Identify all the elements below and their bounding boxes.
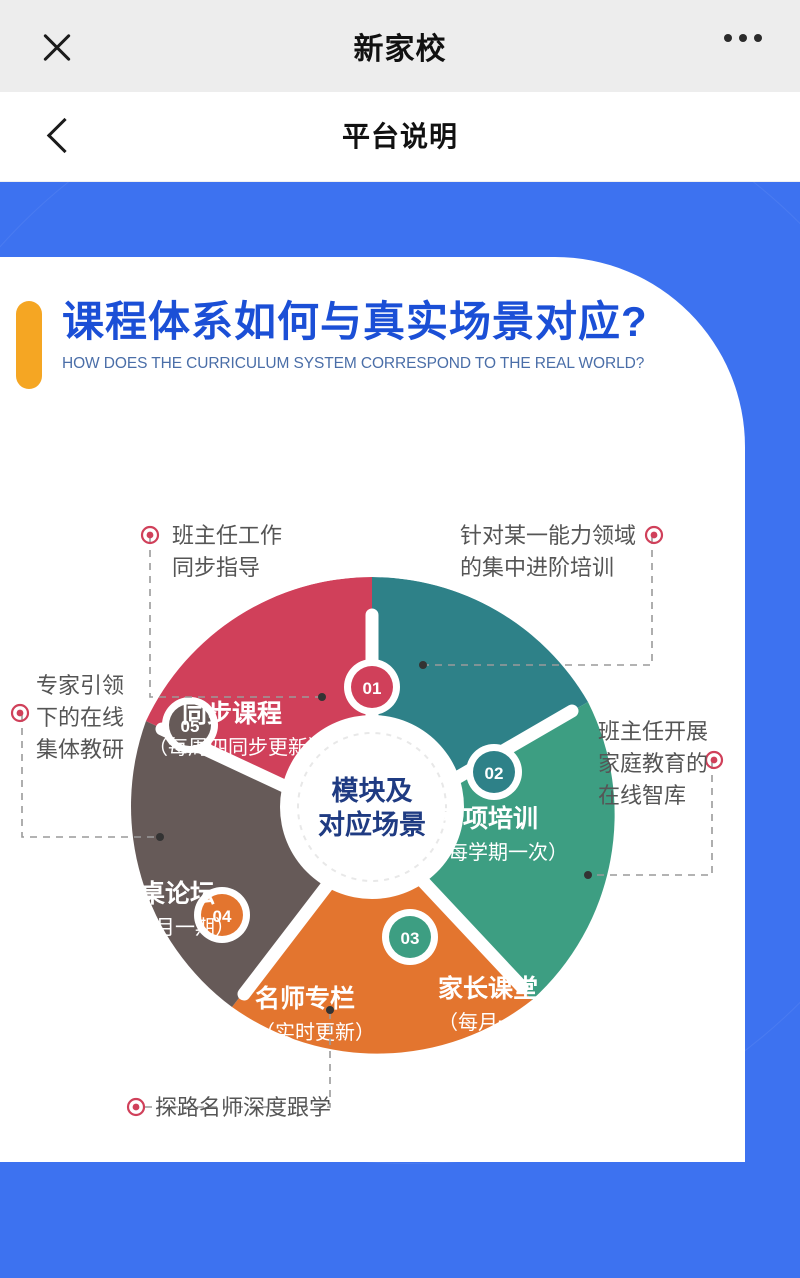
- callout-04-line-3: 集体教研: [36, 737, 124, 762]
- callout-01-line-2: 的集中进阶培训: [460, 555, 614, 580]
- callout-04-line-2: 下的在线: [36, 705, 124, 730]
- callout-02-line-1: 班主任开展: [598, 719, 708, 744]
- poster-heading-block: 课程体系如何与真实场景对应? HOW DOES THE CURRICULUM S…: [16, 295, 648, 389]
- hub-line-2: 对应场景: [318, 809, 426, 840]
- wechat-app-title: 新家校: [0, 24, 800, 68]
- more-options-icon[interactable]: [724, 34, 762, 42]
- page-nav-bar: 平台说明: [0, 92, 800, 182]
- segment-04-subtitle: （每月一期）: [115, 916, 235, 939]
- segment-03-title: 名师专栏: [255, 984, 355, 1013]
- segment-badge-01: 01: [344, 659, 400, 715]
- wechat-top-bar: 新家校: [0, 0, 800, 92]
- segment-badge-02-number: 02: [485, 764, 504, 783]
- segment-badge-03-number: 03: [401, 929, 420, 948]
- poster-heading-cn: 课程体系如何与真实场景对应?: [62, 295, 648, 349]
- callout-01-line-1: 针对某一能力领域: [460, 523, 636, 548]
- chevron-left-icon[interactable]: [42, 112, 78, 162]
- segment-badge-02: 02: [466, 744, 522, 800]
- callout-05-line-1: 班主任工作: [172, 523, 282, 548]
- poster-heading-en: HOW DOES THE CURRICULUM SYSTEM CORRESPON…: [62, 355, 648, 373]
- callout-02-line-3: 在线智库: [598, 783, 686, 808]
- segment-05-subtitle: （每周四同步更新）: [148, 736, 328, 759]
- segment-01-title: 专项培训: [438, 804, 538, 833]
- callout-04-line-1: 专家引领: [36, 673, 124, 698]
- hub-line-1: 模块及: [332, 776, 413, 806]
- close-icon[interactable]: [36, 26, 78, 68]
- callout-03-line-1: 探路名师深度跟学: [155, 1095, 331, 1120]
- app-screen: 新家校 平台说明 课程体系如何与真实场景对应? HOW DOES THE CUR…: [0, 0, 800, 1278]
- accent-bar: [16, 301, 42, 389]
- poster-card: 课程体系如何与真实场景对应? HOW DOES THE CURRICULUM S…: [0, 257, 745, 1162]
- page-title: 平台说明: [0, 92, 800, 182]
- segment-badge-01-number: 01: [363, 679, 382, 698]
- module-wheel-diagram: 01 02 03 04: [0, 507, 745, 1147]
- segment-03-subtitle: （实时更新）: [255, 1021, 375, 1044]
- callout-05-line-2: 同步指导: [172, 555, 260, 580]
- segment-02-title: 家长课堂: [438, 974, 538, 1003]
- poster-stage: 课程体系如何与真实场景对应? HOW DOES THE CURRICULUM S…: [0, 182, 800, 1278]
- segment-04-title: 圆桌论坛: [115, 880, 215, 908]
- segment-05-title: 同步课程: [182, 700, 282, 728]
- segment-badge-03: 03: [382, 909, 438, 965]
- segment-01-subtitle: （每学期一次）: [428, 841, 568, 864]
- segment-02-subtitle: （每月一节）: [438, 1011, 558, 1034]
- callout-02-line-2: 家庭教育的: [598, 751, 708, 776]
